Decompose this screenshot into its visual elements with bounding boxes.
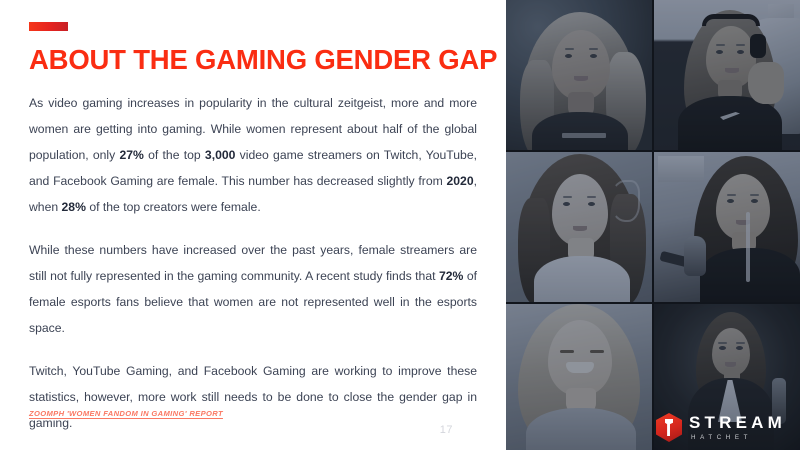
paragraph-3: Twitch, YouTube Gaming, and Facebook Gam… xyxy=(29,358,477,436)
photo-grid: STREAM HATCHET xyxy=(506,0,800,450)
stream-hatchet-logo: STREAM HATCHET xyxy=(656,413,786,442)
logo-wordmark: STREAM HATCHET xyxy=(689,414,786,441)
photo-cell-6: STREAM HATCHET xyxy=(654,304,800,450)
photo-cell-3 xyxy=(506,152,652,302)
page-number: 17 xyxy=(440,424,453,436)
logo-subword: HATCHET xyxy=(691,435,786,441)
source-link[interactable]: ZOOMPH 'WOMEN FANDOM IN GAMING' REPORT xyxy=(29,409,223,418)
hatchet-shield-icon xyxy=(656,413,682,442)
paragraph-1: As video gaming increases in popularity … xyxy=(29,90,477,220)
paragraph-2: While these numbers have increased over … xyxy=(29,237,477,341)
photo-cell-1 xyxy=(506,0,652,150)
photo-cell-5 xyxy=(506,304,652,450)
accent-bar xyxy=(29,22,68,31)
photo-cell-2 xyxy=(654,0,800,150)
logo-word: STREAM xyxy=(689,414,786,431)
slide: ABOUT THE GAMING GENDER GAP As video gam… xyxy=(0,0,800,450)
page-title: ABOUT THE GAMING GENDER GAP xyxy=(29,45,478,74)
content-panel: ABOUT THE GAMING GENDER GAP As video gam… xyxy=(0,0,506,450)
photo-cell-4 xyxy=(654,152,800,302)
